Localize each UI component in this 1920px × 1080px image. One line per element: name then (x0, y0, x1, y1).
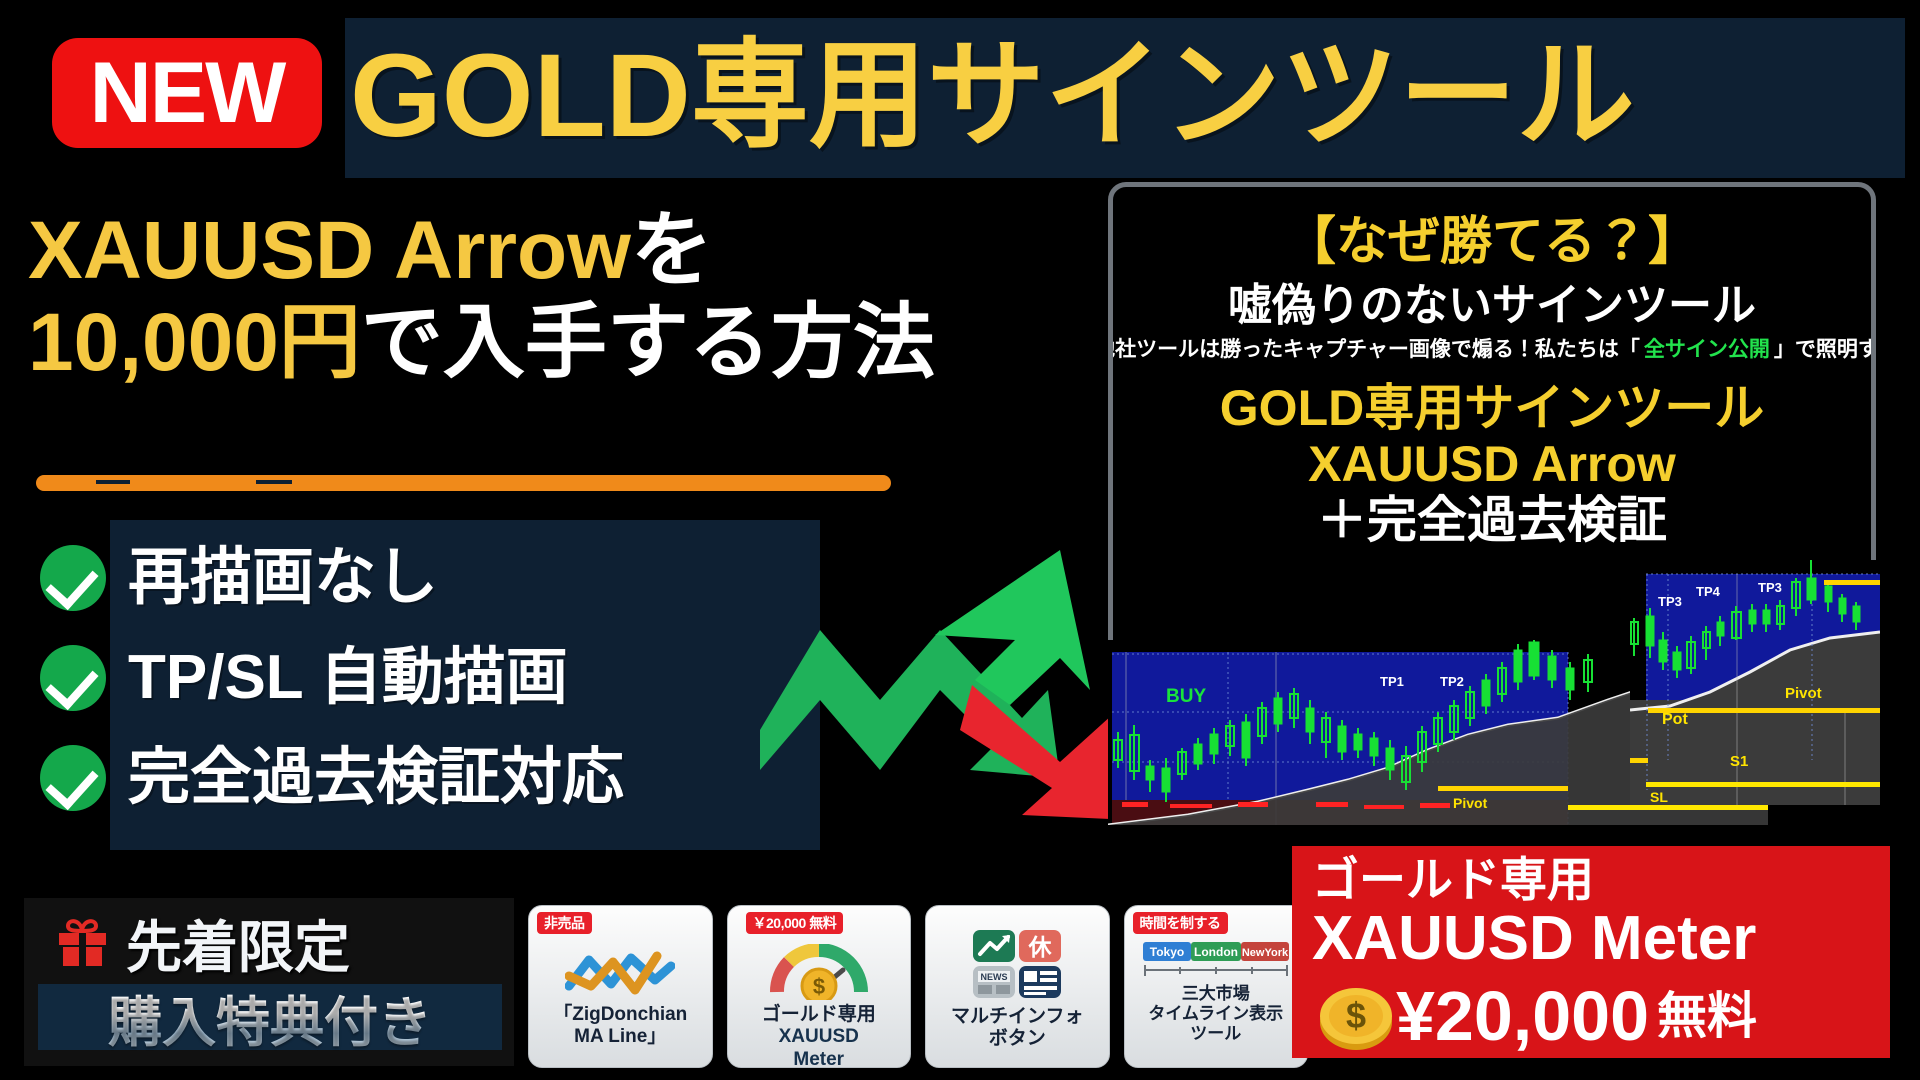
multi-info-buttons-icon: 休 NEWS (971, 928, 1063, 1002)
card-text-3: 三大市場 タイムライン表示 ツール (1144, 984, 1287, 1044)
trend-arrows-group (760, 530, 1160, 820)
pot-label: Pot (1662, 711, 1688, 728)
pivot-line-main (1438, 786, 1568, 791)
session-chip-london: London (1194, 945, 1238, 959)
zigzag-ma-line-icon (565, 944, 675, 1000)
feature-label-0: 再描画なし (128, 547, 438, 609)
feature-item-0: 再描画なし (40, 545, 438, 611)
gift-badge-box: 先着限定 購入特典付き (24, 898, 514, 1066)
promo-free-label: 無料 (1657, 991, 1757, 1041)
card-text-2-line-0: マルチインフォ (951, 1006, 1083, 1028)
feature-item-1: TP/SL 自動描画 (40, 645, 568, 711)
promo-banner: ゴールド専用 XAUUSD Meter $ ¥20,000 無料 (1292, 846, 1890, 1058)
promo-line-1: ゴールド専用 (1312, 856, 1594, 903)
buy-label: BUY (1166, 686, 1206, 707)
card-text-2-line-1: ボタン (951, 1028, 1083, 1050)
headline-row-2: 10,000円で入手する方法 (28, 297, 898, 389)
card-badge-3: 時間を制する (1133, 912, 1228, 934)
sl-line-main (1568, 805, 1768, 810)
svg-text:$: $ (1346, 995, 1366, 1036)
new-badge: NEW (52, 38, 322, 148)
gift-top-row: 先着限定 (24, 904, 514, 982)
feature-label-2: 完全過去検証対応 (128, 747, 624, 809)
pivot-label-main: Pivot (1453, 795, 1488, 811)
sl-label: SL (1650, 789, 1668, 805)
s1-label: S1 (1730, 753, 1748, 770)
session-chip-newyork: NewYork (1242, 947, 1289, 959)
bonus-card-zigdonchian[interactable]: 非売品 「ZigDonchian MA Line」 (528, 905, 713, 1068)
bonus-card-market-timeline[interactable]: 時間を制する Tokyo London NewYork (1124, 905, 1309, 1068)
session-chip-tokyo: Tokyo (1150, 945, 1184, 959)
ticker-post: 」で照明する (1774, 333, 1876, 363)
tp1-label: TP1 (1380, 674, 1404, 689)
page-title: GOLD専用サインツール (350, 16, 1910, 176)
side-tp3-label-b: TP3 (1758, 580, 1782, 595)
side-tp4-label: TP4 (1696, 584, 1721, 599)
side-pivot-label: Pivot (1785, 685, 1822, 702)
side-sl-line (1630, 758, 1648, 763)
card-text-0-line-0: 「ZigDonchian (553, 1004, 687, 1026)
card-text-1-line-1: XAUUSD (762, 1026, 876, 1048)
headline-suffix: で入手する方法 (361, 297, 935, 388)
mockup-line-3: ＋完全過去検証 (1113, 495, 1871, 545)
card-badge-0: 非売品 (537, 912, 592, 934)
card-text-3-line-0: 三大市場 (1148, 984, 1283, 1004)
headline-particle: を (631, 205, 713, 296)
card-text-1-line-2: Meter (762, 1049, 876, 1068)
check-circle-icon (40, 745, 106, 811)
thumbnail-canvas: NEW GOLD専用サインツール XAUUSD Arrowを 10,000円で入… (0, 0, 1920, 1080)
card-text-2: マルチインフォ ボタン (947, 1006, 1087, 1051)
side-tp3-label-a: TP3 (1658, 594, 1682, 609)
new-badge-label: NEW (90, 50, 285, 136)
check-circle-icon (40, 645, 106, 711)
headline-block: XAUUSD Arrowを 10,000円で入手する方法 (28, 205, 898, 425)
bonus-card-xauusd-meter[interactable]: ￥20,000 無料 $ ゴールド専用 XAUUSD Meter (727, 905, 912, 1068)
card-text-0-line-1: MA Line」 (553, 1026, 687, 1048)
headline-price: 10,000円 (28, 297, 361, 388)
promo-price: ¥20,000 (1396, 981, 1649, 1051)
side-top-yellow-line (1824, 580, 1880, 585)
dollar-coin-icon: $ (1312, 978, 1400, 1054)
feature-item-2: 完全過去検証対応 (40, 745, 624, 811)
bonus-cards-row: 非売品 「ZigDonchian MA Line」 ￥20,000 無料 (528, 905, 1308, 1070)
card-badge-1: ￥20,000 無料 (746, 912, 844, 934)
gift-box-icon (54, 914, 112, 972)
card-text-1: ゴールド専用 XAUUSD Meter (758, 1004, 880, 1068)
check-circle-icon (40, 545, 106, 611)
svg-text:休: 休 (1028, 935, 1053, 961)
card-text-3-line-1: タイムライン表示 (1148, 1004, 1283, 1024)
gift-bottom-row: 購入特典付き (38, 984, 502, 1050)
orange-divider (36, 475, 891, 491)
feature-label-1: TP/SL 自動描画 (128, 647, 568, 709)
gold-gauge-coin-icon: $ (769, 944, 869, 1000)
gift-bottom-label: 購入特典付き (108, 978, 432, 1057)
mockup-line-2: XAUUSD Arrow (1113, 439, 1871, 489)
card-text-1-line-0: ゴールド専用 (762, 1004, 876, 1026)
card-text-0: 「ZigDonchian MA Line」 (549, 1004, 691, 1049)
card-text-3-line-2: ツール (1148, 1024, 1283, 1044)
svg-text:NEWS: NEWS (981, 972, 1008, 982)
ticker-highlight: 全サイン公開 (1644, 333, 1770, 363)
tp2-label: TP2 (1440, 674, 1464, 689)
mockup-ticker-bar: 他社ツールは勝ったキャプチャー画像で煽る！私たちは「 全サイン公開 」で照明する (1129, 327, 1865, 369)
promo-price-row: $ ¥20,000 無料 (1312, 978, 1757, 1054)
headline-row-1: XAUUSD Arrowを (28, 205, 898, 297)
mockup-line-1: GOLD専用サインツール (1113, 383, 1871, 433)
gift-top-label: 先着限定 (126, 903, 350, 984)
mockup-title: 【なぜ勝てる？】 (1113, 199, 1871, 274)
promo-line-2: XAUUSD Meter (1312, 908, 1756, 970)
market-timeline-icon: Tokyo London NewYork (1141, 940, 1291, 980)
bonus-card-multi-info[interactable]: 休 NEWS マルチインフォ ボタン (925, 905, 1110, 1068)
ticker-pre: 他社ツールは勝ったキャプチャー画像で煽る！私たちは「 (1108, 333, 1640, 363)
side-candlestick-chart: TP3 TP4 TP3 Pot Pivot S1 SL (1630, 560, 1880, 805)
mockup-subtitle: 嘘偽りのないサインツール (1113, 269, 1871, 333)
headline-product-name: XAUUSD Arrow (28, 205, 631, 296)
svg-text:$: $ (813, 974, 825, 999)
side-sl-line-2 (1646, 782, 1880, 787)
